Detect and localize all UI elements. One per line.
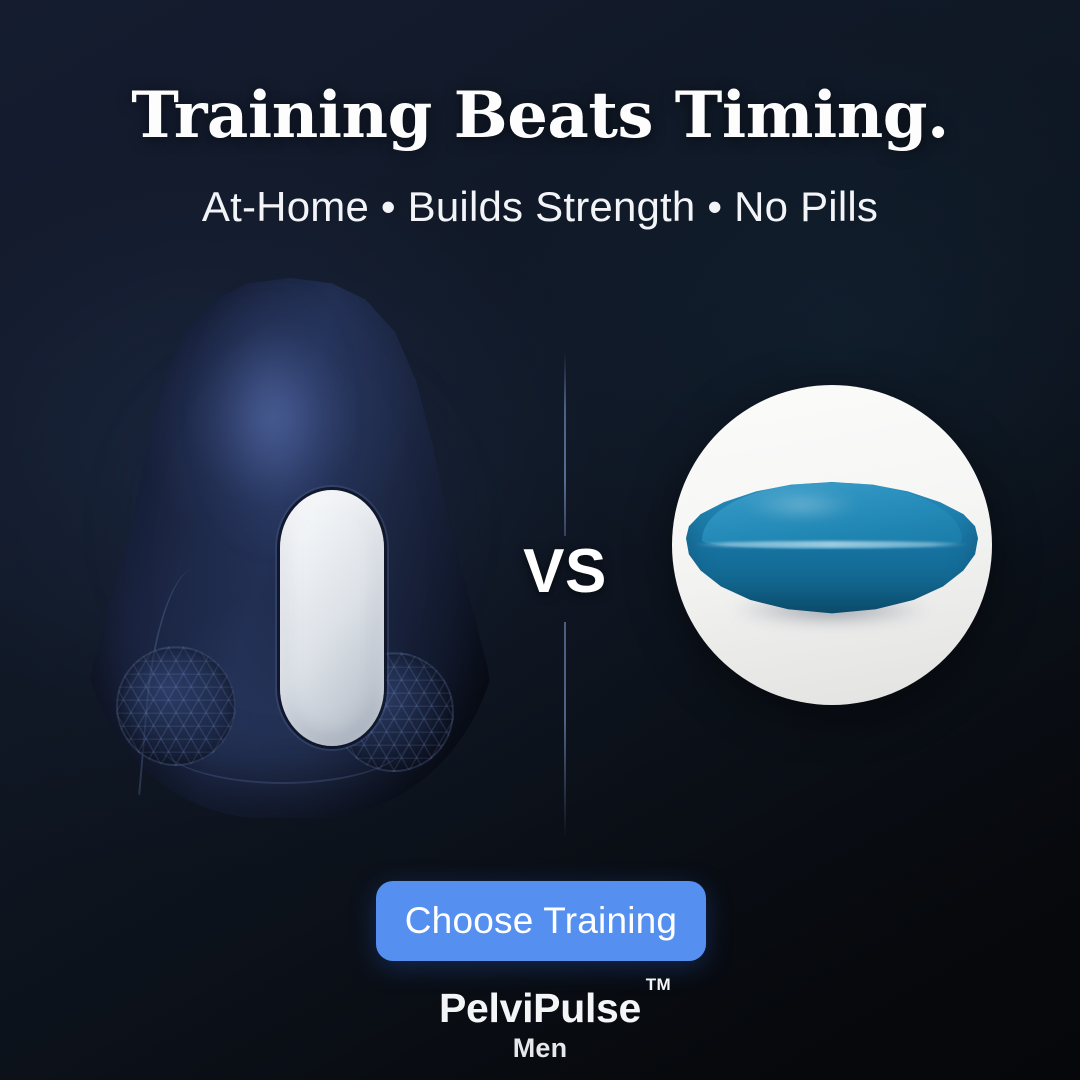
trademark-symbol: TM <box>646 976 671 993</box>
product-device-image <box>62 268 518 838</box>
device-control-panel <box>280 490 384 746</box>
pill-gloss-highlight <box>734 489 884 529</box>
pill-seam-ridge <box>694 541 970 548</box>
product-pill-image <box>672 385 992 705</box>
vs-label: VS <box>505 541 625 603</box>
brand-logo: PelviPulseTM Men <box>0 988 1080 1062</box>
page-title: Training Beats Timing. <box>0 82 1080 149</box>
brand-name-text: PelviPulse <box>439 985 641 1031</box>
divider-line-top <box>564 352 566 536</box>
choose-training-button[interactable]: Choose Training <box>376 881 706 961</box>
brand-name: PelviPulseTM <box>439 988 641 1029</box>
divider-line-bottom <box>564 622 566 838</box>
subheading: At-Home • Builds Strength • No Pills <box>0 182 1080 232</box>
advertisement-canvas: Training Beats Timing. At-Home • Builds … <box>0 0 1080 1080</box>
brand-subline: Men <box>0 1035 1080 1062</box>
